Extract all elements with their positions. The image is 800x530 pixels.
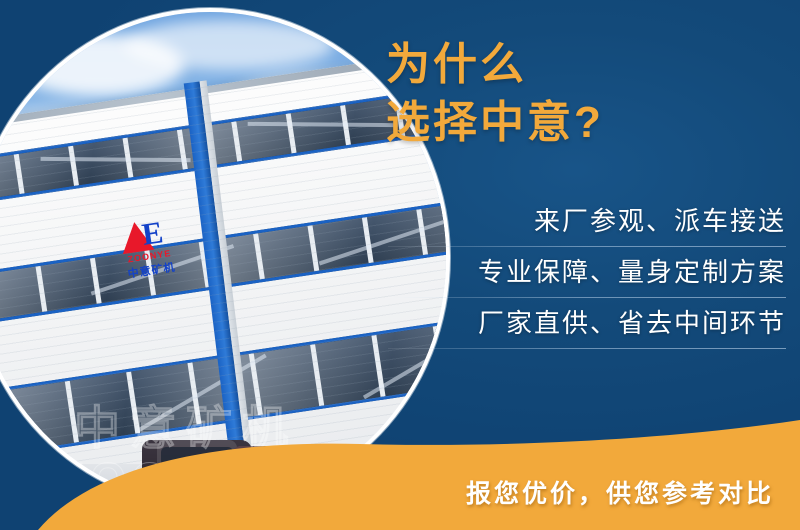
feature-item-3: 厂家直供、省去中间环节 [356, 298, 786, 348]
feature-divider [388, 348, 786, 349]
ribbon-text: 报您优价，供您参考对比 [466, 474, 774, 510]
feature-item-1: 来厂参观、派车接送 [356, 196, 786, 246]
promo-banner: E ZOONYE 中意矿机 中意矿机 ZOONYE 为 [0, 0, 800, 530]
headline-line-1: 为什么 [366, 36, 786, 94]
feature-item-2: 专业保障、量身定制方案 [356, 247, 786, 297]
headline-line-2: 选择中意? [366, 94, 786, 152]
feature-list: 来厂参观、派车接送 专业保障、量身定制方案 厂家直供、省去中间环节 [356, 196, 786, 349]
headline-block: 为什么 选择中意? [366, 36, 786, 152]
logo-letter-e-icon: E [140, 217, 165, 250]
cloud [124, 20, 334, 70]
bottom-ribbon: 报您优价，供您参考对比 [0, 420, 800, 530]
company-logo: E ZOONYE 中意矿机 [112, 215, 189, 290]
